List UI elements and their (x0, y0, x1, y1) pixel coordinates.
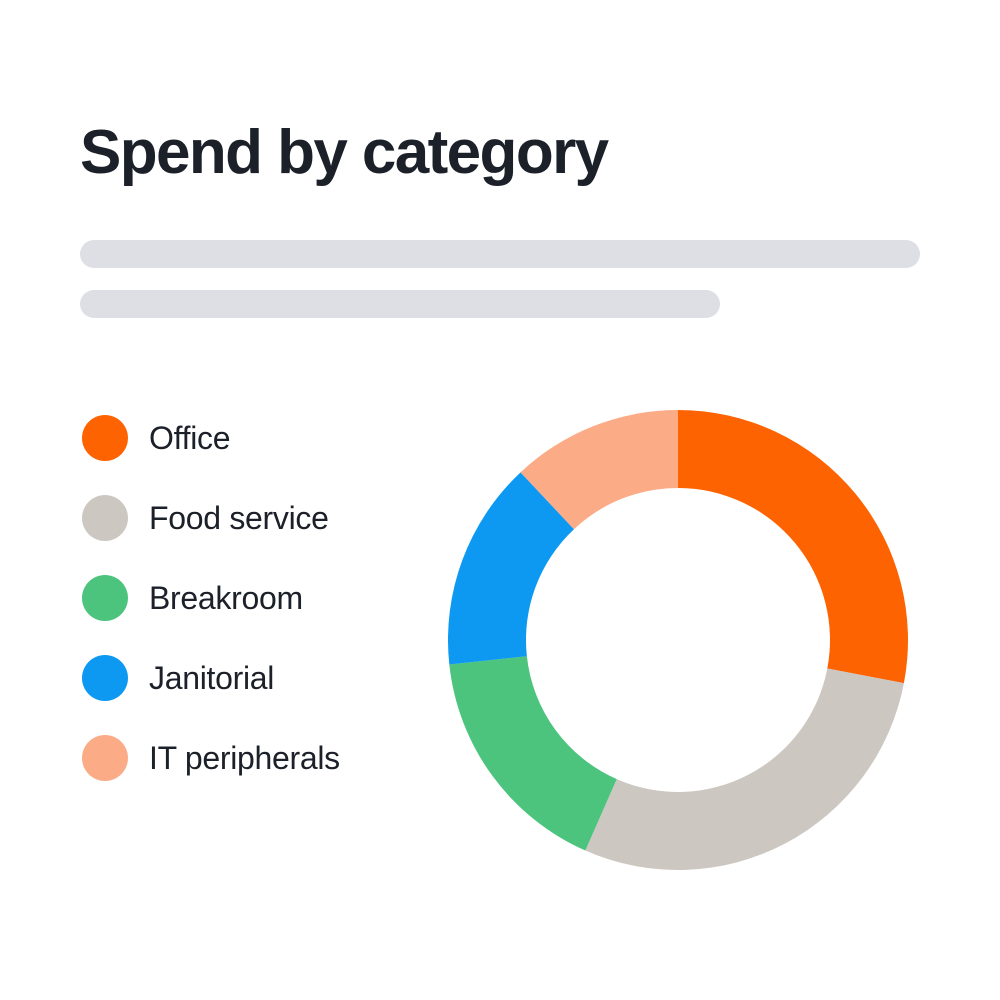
legend-item-breakroom[interactable]: Breakroom (82, 558, 412, 638)
legend-swatch-icon (82, 415, 128, 461)
skeleton-line-2 (80, 290, 720, 318)
legend-item-food-service[interactable]: Food service (82, 478, 412, 558)
skeleton-line-1 (80, 240, 920, 268)
donut-segment-breakroom[interactable] (449, 656, 616, 850)
page-title: Spend by category (80, 117, 608, 189)
legend-swatch-icon (82, 735, 128, 781)
legend-item-office[interactable]: Office (82, 398, 412, 478)
legend-item-label: Breakroom (149, 579, 303, 617)
legend-item-label: Food service (149, 499, 329, 537)
donut-chart-svg (448, 410, 908, 870)
legend-item-label: IT peripherals (149, 739, 340, 777)
donut-chart (448, 410, 908, 870)
legend-item-label: Office (149, 419, 230, 457)
legend-item-janitorial[interactable]: Janitorial (82, 638, 412, 718)
legend-swatch-icon (82, 655, 128, 701)
legend-item-it-peripherals[interactable]: IT peripherals (82, 718, 412, 798)
legend-swatch-icon (82, 575, 128, 621)
legend-item-label: Janitorial (149, 659, 274, 697)
chart-legend: Office Food service Breakroom Janitorial… (82, 398, 412, 798)
donut-segment-office[interactable] (678, 410, 908, 683)
legend-swatch-icon (82, 495, 128, 541)
donut-segment-food-service[interactable] (585, 668, 904, 870)
spend-by-category-card: Spend by category Office Food service Br… (0, 0, 1000, 1000)
